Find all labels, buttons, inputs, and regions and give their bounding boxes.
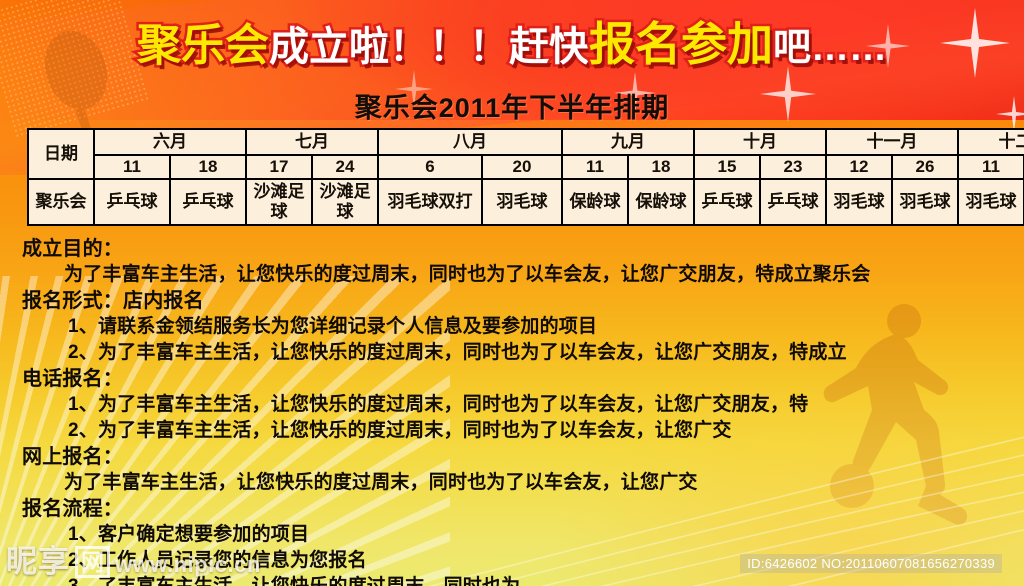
schedule-activity-7: 保龄球	[628, 179, 694, 225]
poster-headline: 聚乐会成立啦！！！赶快报名参加吧……	[0, 22, 1024, 70]
schedule-activity-11: 羽毛球	[892, 179, 958, 225]
schedule-activity-10: 羽毛球	[826, 179, 892, 225]
schedule-row-label: 聚乐会	[28, 179, 94, 225]
headline-part-3: 报名参加	[589, 22, 773, 66]
body-line-3: 1、请联系金领结服务长为您详细记录个人信息及要参加的项目	[22, 314, 1012, 340]
schedule-month-3: 九月	[562, 129, 694, 155]
schedule-month-4: 十月	[694, 129, 826, 155]
schedule-activity-9: 乒乓球	[760, 179, 826, 225]
schedule-date-3: 24	[312, 155, 378, 179]
schedule-month-1: 七月	[246, 129, 378, 155]
schedule-activity-2: 沙滩足球	[246, 179, 312, 225]
schedule-activity-3: 沙滩足球	[312, 179, 378, 225]
body-line-6: 1、为了丰富车主生活，让您快乐的度过周末，同时也为了以车会友，让您广交朋友，特	[22, 392, 1012, 418]
body-line-11: 1、客户确定想要参加的项目	[22, 522, 1012, 548]
body-heading-2: 报名形式：店内报名	[22, 288, 1012, 314]
schedule-date-1: 18	[170, 155, 246, 179]
table-row-months: 日期 六月七月八月九月十月十一月十二月	[28, 129, 1024, 155]
page-title: 聚乐会2011年下半年排期	[0, 86, 1024, 125]
schedule-date-7: 18	[628, 155, 694, 179]
body-heading-0: 成立目的：	[22, 236, 1012, 262]
headline-part-1: 聚乐会	[137, 24, 269, 68]
schedule-activity-4: 羽毛球双打	[378, 179, 482, 225]
schedule-date-0: 11	[94, 155, 170, 179]
schedule-activity-12: 羽毛球	[958, 179, 1024, 225]
schedule-date-2: 17	[246, 155, 312, 179]
schedule-date-11: 26	[892, 155, 958, 179]
body-line-4: 2、为了丰富车主生活，让您快乐的度过周末，同时也为了以车会友，让您广交朋友，特成…	[22, 340, 1012, 366]
body-heading-5: 电话报名：	[22, 366, 1012, 392]
schedule-activity-0: 乒乓球	[94, 179, 170, 225]
poster-canvas: 聚乐会成立啦！！！赶快报名参加吧…… 聚乐会2011年下半年排期 日期 六月七月…	[0, 0, 1024, 586]
body-line-1: 为了丰富车主生活，让您快乐的度过周末，同时也为了以车会友，让您广交朋友，特成立聚…	[22, 262, 1012, 288]
schedule-month-2: 八月	[378, 129, 562, 155]
schedule-date-4: 6	[378, 155, 482, 179]
schedule-activity-6: 保龄球	[562, 179, 628, 225]
headline-part-4: 吧……	[773, 26, 887, 70]
schedule-date-12: 11	[958, 155, 1024, 179]
schedule-activity-8: 乒乓球	[694, 179, 760, 225]
schedule-month-6: 十二月	[958, 129, 1024, 155]
schedule-corner-label: 日期	[28, 129, 94, 179]
schedule-date-10: 12	[826, 155, 892, 179]
table-row-activities: 聚乐会 乒乓球乒乓球沙滩足球沙滩足球羽毛球双打羽毛球保龄球保龄球乒乓球乒乓球羽毛…	[28, 179, 1024, 225]
schedule-date-9: 23	[760, 155, 826, 179]
body-heading-10: 报名流程：	[22, 496, 1012, 522]
body-heading-8: 网上报名：	[22, 444, 1012, 470]
schedule-date-5: 20	[482, 155, 562, 179]
table-row-dates: 111817246201118152312261117	[28, 155, 1024, 179]
schedule-date-8: 15	[694, 155, 760, 179]
body-line-12: 2、工作人员记录您的信息为您报名	[22, 548, 1012, 574]
schedule-activity-5: 羽毛球	[482, 179, 562, 225]
schedule-table: 日期 六月七月八月九月十月十一月十二月 11181724620111815231…	[27, 128, 1024, 226]
schedule-table-container: 日期 六月七月八月九月十月十一月十二月 11181724620111815231…	[27, 128, 997, 226]
schedule-activity-1: 乒乓球	[170, 179, 246, 225]
schedule-date-6: 11	[562, 155, 628, 179]
schedule-month-0: 六月	[94, 129, 246, 155]
body-line-7: 2、为了丰富车主生活，让您快乐的度过周末，同时也为了以车会友，让您广交	[22, 418, 1012, 444]
body-line-9: 为了丰富车主生活，让您快乐的度过周末，同时也为了以车会友，让您广交	[22, 470, 1012, 496]
schedule-month-5: 十一月	[826, 129, 958, 155]
body-line-13: 3、了丰富车主生活，让您快乐的度过周末，同时也为	[22, 574, 1012, 586]
headline-part-2: 成立啦！！！赶快	[269, 25, 589, 69]
body-copy: 成立目的：为了丰富车主生活，让您快乐的度过周末，同时也为了以车会友，让您广交朋友…	[22, 236, 1012, 586]
